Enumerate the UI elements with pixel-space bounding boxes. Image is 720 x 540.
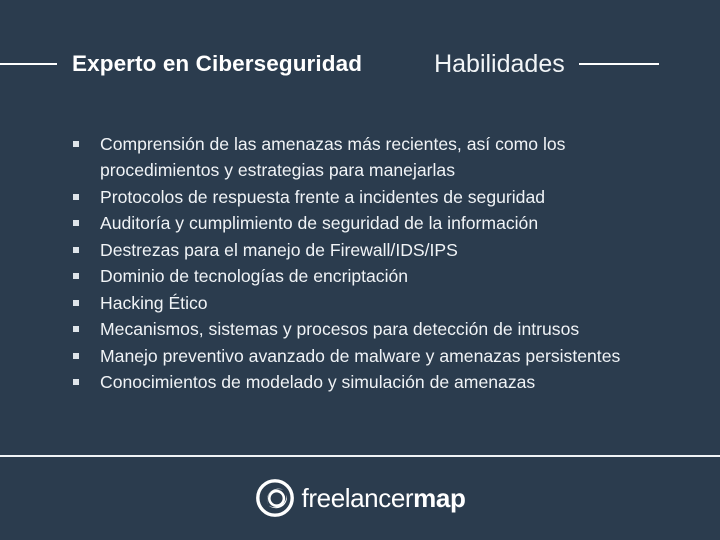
skills-list: Comprensión de las amenazas más reciente… <box>72 131 662 396</box>
freelancermap-aperture-icon <box>255 478 295 518</box>
page-subtitle: Habilidades <box>434 50 565 79</box>
square-bullet-icon <box>73 300 79 306</box>
list-item-label: Conocimientos de modelado y simulación d… <box>100 372 535 392</box>
brand-logo-text: freelancermap <box>302 485 466 511</box>
list-item: Auditoría y cumplimiento de seguridad de… <box>72 210 662 236</box>
square-bullet-icon <box>73 247 79 253</box>
list-item: Hacking Ético <box>72 290 662 316</box>
brand-name-bold: map <box>413 483 465 513</box>
list-item: Mecanismos, sistemas y procesos para det… <box>72 316 662 342</box>
square-bullet-icon <box>73 379 79 385</box>
header-rule-left-icon <box>0 63 57 65</box>
square-bullet-icon <box>73 194 79 200</box>
list-item-label: Manejo preventivo avanzado de malware y … <box>100 346 620 366</box>
list-item-label: Mecanismos, sistemas y procesos para det… <box>100 319 579 339</box>
square-bullet-icon <box>73 220 79 226</box>
footer-divider <box>0 455 720 457</box>
brand-name-light: freelancer <box>302 483 414 513</box>
square-bullet-icon <box>73 273 79 279</box>
list-item: Comprensión de las amenazas más reciente… <box>72 131 662 183</box>
list-item-label: Protocolos de respuesta frente a inciden… <box>100 187 545 207</box>
header-rule-right-icon <box>579 63 659 65</box>
list-item-label: Dominio de tecnologías de encriptación <box>100 266 408 286</box>
list-item: Manejo preventivo avanzado de malware y … <box>72 343 662 369</box>
brand-logo: freelancermap <box>0 478 720 518</box>
square-bullet-icon <box>73 141 79 147</box>
list-item-label: Comprensión de las amenazas más reciente… <box>100 134 565 180</box>
list-item: Dominio de tecnologías de encriptación <box>72 263 662 289</box>
page-title: Experto en Ciberseguridad <box>72 51 362 77</box>
slide-header: Experto en Ciberseguridad Habilidades <box>0 44 720 84</box>
list-item: Conocimientos de modelado y simulación d… <box>72 369 662 395</box>
square-bullet-icon <box>73 326 79 332</box>
list-item: Destrezas para el manejo de Firewall/IDS… <box>72 237 662 263</box>
list-item-label: Hacking Ético <box>100 293 208 313</box>
square-bullet-icon <box>73 353 79 359</box>
slide-canvas: Experto en Ciberseguridad Habilidades Co… <box>0 0 720 540</box>
list-item-label: Auditoría y cumplimiento de seguridad de… <box>100 213 538 233</box>
list-item: Protocolos de respuesta frente a inciden… <box>72 184 662 210</box>
list-item-label: Destrezas para el manejo de Firewall/IDS… <box>100 240 458 260</box>
